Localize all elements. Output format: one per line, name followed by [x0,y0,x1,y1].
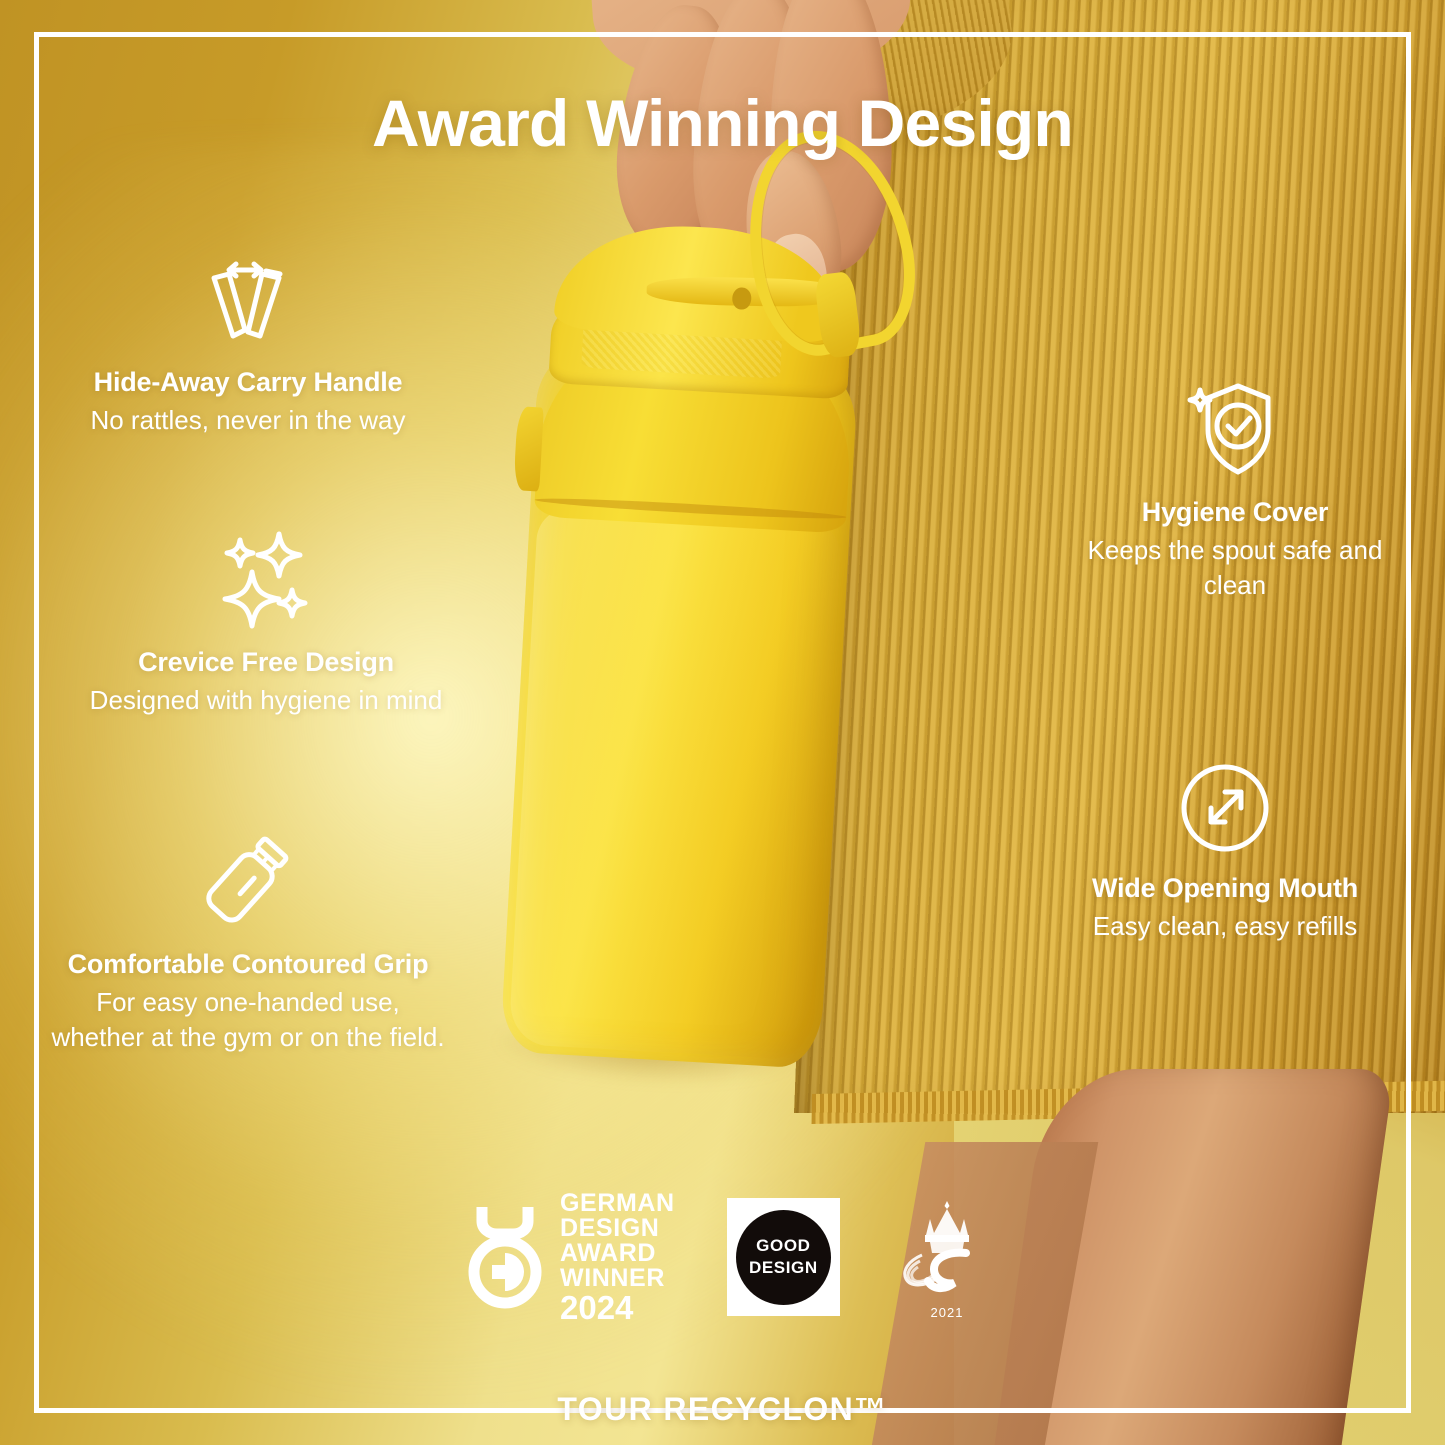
water-bottle [465,213,945,1074]
brand-name: TOUR RECYCLON™ [531,1391,913,1428]
feature-description: No rattles, never in the way [58,403,438,438]
german-design-award-medal-icon [462,1201,548,1313]
feature-comfortable-contoured-grip: Comfortable Contoured Grip For easy one-… [48,830,448,1054]
award-badges: GERMAN DESIGN AWARD WINNER 2024 GOOD DES… [462,1192,1002,1322]
page-title: Award Winning Design [0,85,1445,161]
brand-footer: TOUR RECYCLON™ [0,1391,1445,1428]
bottle-grip-icon [193,830,303,934]
expand-arrows-icon [1175,758,1275,858]
good-design-badge: GOOD DESIGN [727,1198,840,1316]
feature-description: Designed with hygiene in mind [86,683,446,718]
shield-check-icon [1182,378,1288,482]
good-design-circle: GOOD DESIGN [736,1210,831,1305]
sparkles-icon [214,528,318,632]
gda-line-1: GERMAN [560,1191,675,1216]
feature-title: Wide Opening Mouth [1030,872,1420,905]
feature-hygiene-cover: Hygiene Cover Keeps the spout safe and c… [1060,378,1410,602]
feature-title: Hide-Away Carry Handle [58,366,438,399]
gda-year: 2024 [560,1291,675,1324]
feature-title: Crevice Free Design [86,646,446,679]
feature-description: Easy clean, easy refills [1030,909,1420,944]
queens-award-crown-e-icon [892,1195,1002,1303]
feature-hide-away-carry-handle: Hide-Away Carry Handle No rattles, never… [58,252,438,438]
queens-award-badge: 2021 [892,1195,1002,1320]
gda-line-4: WINNER [560,1266,675,1291]
queens-award-year: 2021 [892,1305,1002,1320]
german-design-award-badge: GERMAN DESIGN AWARD WINNER 2024 [462,1191,675,1324]
feature-wide-opening-mouth: Wide Opening Mouth Easy clean, easy refi… [1030,758,1420,944]
feature-title: Hygiene Cover [1060,496,1410,529]
gda-line-3: AWARD [560,1241,675,1266]
carry-handle-icon [196,252,300,352]
good-design-line-1: GOOD [756,1235,810,1257]
feature-description: Keeps the spout safe and clean [1060,533,1410,602]
feature-description: For easy one-handed use, whether at the … [48,985,448,1054]
german-design-award-text: GERMAN DESIGN AWARD WINNER 2024 [560,1191,675,1324]
bottle-frosted-surface [509,508,842,1060]
gda-line-2: DESIGN [560,1216,675,1241]
good-design-line-2: DESIGN [749,1257,818,1279]
feature-title: Comfortable Contoured Grip [48,948,448,981]
infographic-canvas: Award Winning Design Hide-Away Carry Han… [0,0,1445,1445]
feature-crevice-free-design: Crevice Free Design Designed with hygien… [86,528,446,718]
